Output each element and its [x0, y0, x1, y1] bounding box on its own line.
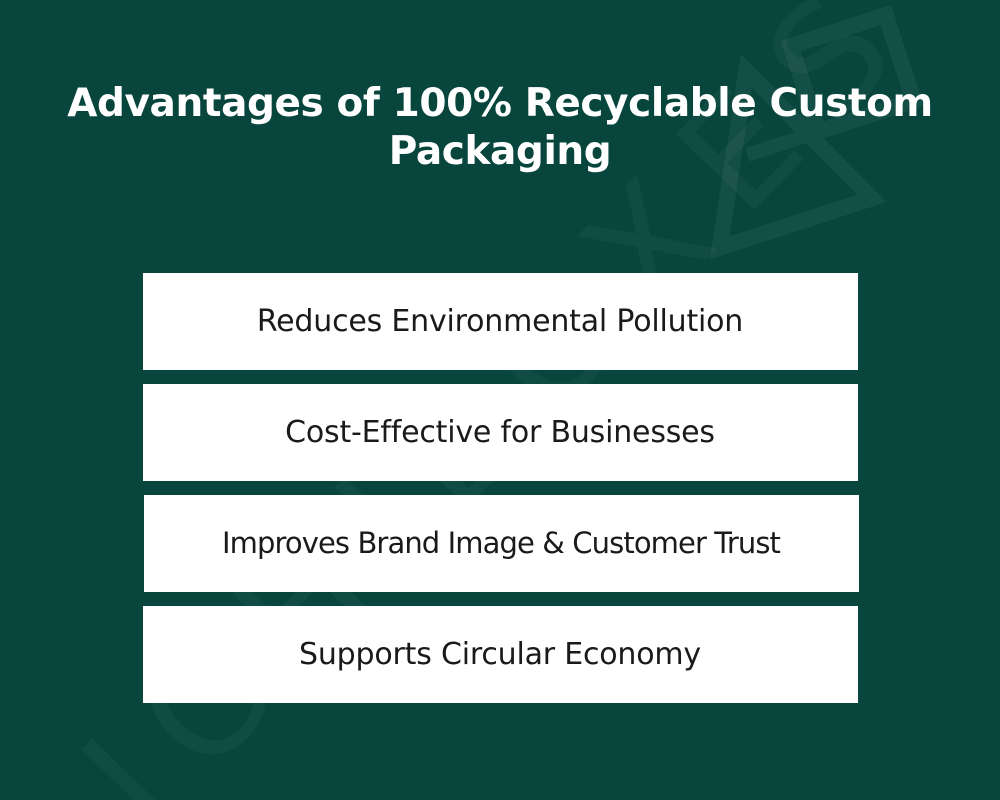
advantages-list: Reduces Environmental Pollution Cost-Eff…: [143, 273, 858, 703]
advantage-label-4: Supports Circular Economy: [299, 637, 701, 673]
page-title-line-1: Advantages of 100% Recyclable Custom: [60, 80, 940, 128]
advantage-card-4: Supports Circular Economy: [143, 606, 858, 703]
advantage-card-2: Cost-Effective for Businesses: [143, 384, 858, 481]
advantage-card-1: Reduces Environmental Pollution: [143, 273, 858, 370]
advantage-card-3: Improves Brand Image & Customer Trust: [144, 495, 859, 592]
page-title-line-2: Packaging: [60, 128, 940, 176]
infographic-page: Advantages of 100% Recyclable Custom Pac…: [0, 0, 1000, 800]
advantage-label-2: Cost-Effective for Businesses: [285, 415, 715, 451]
page-title: Advantages of 100% Recyclable Custom Pac…: [60, 80, 940, 175]
advantage-label-3: Improves Brand Image & Customer Trust: [222, 526, 780, 561]
advantage-label-1: Reduces Environmental Pollution: [257, 304, 743, 340]
